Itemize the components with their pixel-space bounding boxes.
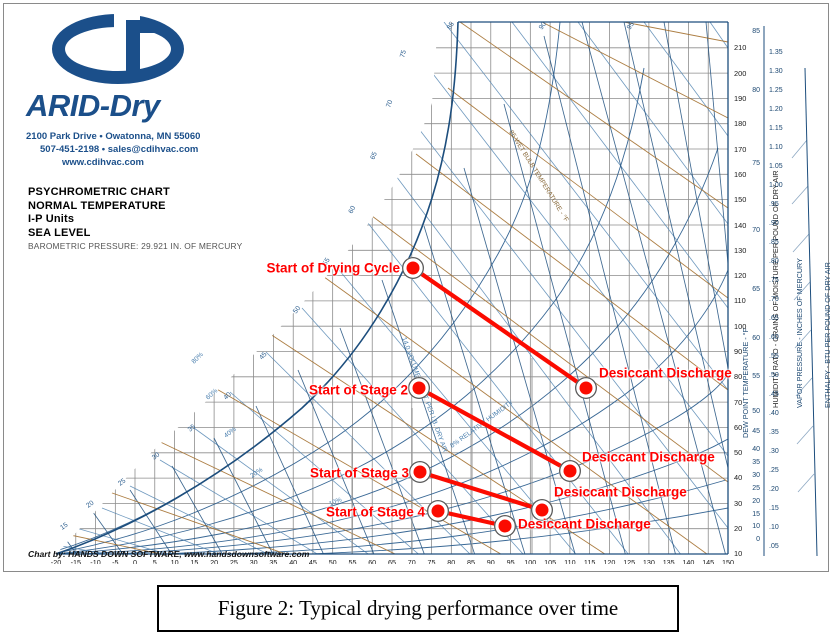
dew-point-axis-title: DEW POINT TEMPERATURE - °F <box>741 327 750 438</box>
label-start-of-stage-2: Start of Stage 2 <box>309 383 408 398</box>
svg-text:200: 200 <box>734 69 746 78</box>
svg-text:.45: .45 <box>769 391 779 398</box>
svg-text:170: 170 <box>734 145 746 154</box>
svg-text:.95: .95 <box>769 201 779 208</box>
svg-text:.55: .55 <box>769 353 779 360</box>
svg-text:80%: 80% <box>191 351 205 365</box>
svg-text:35: 35 <box>187 423 197 433</box>
chart-title-line1: PSYCHROMETRIC CHART <box>28 186 242 200</box>
figure-caption-text: Figure 2: Typical drying performance ove… <box>218 596 619 621</box>
svg-text:.15: .15 <box>769 505 779 512</box>
chart-credit: Chart by: HANDS DOWN SOFTWARE, www.hands… <box>28 549 309 559</box>
svg-text:50: 50 <box>752 408 760 415</box>
svg-text:35: 35 <box>752 459 760 466</box>
svg-text:1.15: 1.15 <box>769 125 783 132</box>
chart-title-line2: NORMAL TEMPERATURE <box>28 200 242 214</box>
svg-text:25: 25 <box>752 485 760 492</box>
marker-dot-icon <box>499 520 512 533</box>
svg-text:130: 130 <box>643 558 655 564</box>
svg-text:.40: .40 <box>769 410 779 417</box>
svg-text:140: 140 <box>734 221 746 230</box>
svg-text:70: 70 <box>408 558 416 564</box>
svg-text:140: 140 <box>682 558 694 564</box>
svg-text:45: 45 <box>309 558 317 564</box>
svg-text:1.35: 1.35 <box>769 49 783 56</box>
svg-text:115: 115 <box>584 558 595 564</box>
svg-text:.70: .70 <box>769 296 779 303</box>
marker-dot-icon <box>536 504 549 517</box>
svg-text:75: 75 <box>428 558 436 564</box>
svg-text:75: 75 <box>399 49 408 58</box>
svg-text:.60: .60 <box>769 334 779 341</box>
svg-text:210: 210 <box>734 43 746 52</box>
marker-start-of-stage-4[interactable] <box>427 500 449 522</box>
svg-text:.90: .90 <box>769 220 779 227</box>
svg-text:50: 50 <box>329 558 337 564</box>
svg-text:90: 90 <box>487 558 495 564</box>
label-desiccant-discharge-1: Desiccant Discharge <box>599 366 732 381</box>
svg-text:40%: 40% <box>223 426 238 440</box>
vapor-pressure-axis-title: VAPOR PRESSURE - INCHES OF MERCURY <box>795 258 804 408</box>
svg-text:50: 50 <box>734 448 742 457</box>
svg-text:.80: .80 <box>769 258 779 265</box>
brand-address-line1: 2100 Park Drive • Owatonna, MN 55060 <box>26 130 306 143</box>
barometric-pressure-note: BAROMETRIC PRESSURE: 29.921 IN. OF MERCU… <box>28 241 242 251</box>
svg-text:110: 110 <box>564 558 575 564</box>
svg-text:85: 85 <box>752 28 760 35</box>
svg-text:1.30: 1.30 <box>769 68 783 75</box>
svg-text:55: 55 <box>349 558 357 564</box>
svg-text:120: 120 <box>603 558 615 564</box>
vapor-pressure-axis: .05.10.15 .20.25.30 .35.40.45 .50.55.60 … <box>769 49 783 550</box>
svg-text:30: 30 <box>752 472 760 479</box>
marker-start-of-stage-3[interactable] <box>409 461 431 483</box>
svg-text:.25: .25 <box>769 467 779 474</box>
svg-text:40: 40 <box>734 473 742 482</box>
marker-start-of-drying-cycle[interactable] <box>402 257 424 279</box>
svg-text:150: 150 <box>722 558 734 564</box>
page-root: -20-15-10 -505 101520 253035 404550 5560… <box>0 0 836 636</box>
svg-text:.20: .20 <box>769 486 779 493</box>
svg-text:120: 120 <box>734 271 746 280</box>
svg-text:190: 190 <box>734 94 746 103</box>
brand-block: ARID-Dry 2100 Park Drive • Owatonna, MN … <box>26 14 306 169</box>
svg-text:40: 40 <box>223 391 233 401</box>
svg-text:100: 100 <box>524 558 536 564</box>
svg-text:0: 0 <box>756 536 760 543</box>
svg-text:25: 25 <box>117 477 127 487</box>
svg-text:20%: 20% <box>249 466 264 479</box>
humidity-ratio-axis: 102030 405060 708090 100110120 130140150… <box>734 43 746 558</box>
brand-website[interactable]: www.cdihvac.com <box>62 156 306 169</box>
marker-desiccant-discharge-4[interactable] <box>494 515 516 537</box>
svg-text:.05: .05 <box>769 543 779 550</box>
svg-text:65: 65 <box>369 151 379 161</box>
svg-text:70: 70 <box>385 99 394 109</box>
svg-text:.30: .30 <box>769 448 779 455</box>
marker-dot-icon <box>432 505 445 518</box>
svg-text:50: 50 <box>292 305 302 315</box>
svg-text:110: 110 <box>734 296 746 305</box>
label-start-of-stage-4: Start of Stage 4 <box>326 505 425 520</box>
marker-desiccant-discharge-1[interactable] <box>575 377 597 399</box>
brand-contact: 2100 Park Drive • Owatonna, MN 55060 507… <box>26 130 306 169</box>
marker-dot-icon <box>413 382 426 395</box>
svg-text:.50: .50 <box>769 372 779 379</box>
svg-text:1.25: 1.25 <box>769 87 783 94</box>
svg-text:45: 45 <box>258 351 268 361</box>
svg-text:45: 45 <box>752 428 760 435</box>
svg-text:15: 15 <box>59 522 69 532</box>
label-desiccant-discharge-2: Desiccant Discharge <box>582 450 715 465</box>
svg-text:65: 65 <box>388 558 396 564</box>
label-start-of-drying-cycle: Start of Drying Cycle <box>266 261 400 276</box>
label-desiccant-discharge-4: Desiccant Discharge <box>518 517 651 532</box>
svg-text:145: 145 <box>702 558 714 564</box>
figure-caption-box: Figure 2: Typical drying performance ove… <box>157 585 679 632</box>
svg-text:60: 60 <box>752 335 760 342</box>
svg-text:85: 85 <box>446 21 456 31</box>
svg-text:60: 60 <box>368 558 376 564</box>
wet-bulb-note: 85 WET BULB TEMPERATURE - °F <box>507 129 570 223</box>
label-start-of-stage-3: Start of Stage 3 <box>310 466 409 481</box>
svg-text:.10: .10 <box>769 524 779 531</box>
svg-text:20: 20 <box>734 524 742 533</box>
enthalpy-axis-title: ENTHALPY - BTU PER POUND OF DRY AIR <box>823 262 832 408</box>
svg-text:70: 70 <box>752 227 760 234</box>
svg-text:1.20: 1.20 <box>769 106 783 113</box>
svg-text:20: 20 <box>85 500 95 510</box>
svg-text:180: 180 <box>734 119 746 128</box>
marker-start-of-stage-2[interactable] <box>408 377 430 399</box>
svg-text:10: 10 <box>734 549 742 558</box>
svg-text:80: 80 <box>447 558 455 564</box>
svg-text:.85: .85 <box>769 239 779 246</box>
arid-dry-logo-icon <box>52 14 202 86</box>
svg-text:.65: .65 <box>769 315 779 322</box>
svg-text:40: 40 <box>752 446 760 453</box>
svg-text:150: 150 <box>734 195 746 204</box>
svg-text:75: 75 <box>752 160 760 167</box>
marker-dot-icon <box>414 466 427 479</box>
brand-name: ARID-Dry <box>26 88 306 124</box>
svg-text:.75: .75 <box>769 277 779 284</box>
svg-text:85: 85 <box>467 558 475 564</box>
svg-text:60: 60 <box>348 205 358 215</box>
svg-text:130: 130 <box>734 246 746 255</box>
enthalpy-axis-line <box>805 68 817 556</box>
svg-text:.35: .35 <box>769 429 779 436</box>
svg-text:60%: 60% <box>205 387 220 401</box>
svg-text:1.05: 1.05 <box>769 163 783 170</box>
svg-text:160: 160 <box>734 170 746 179</box>
dew-point-axis: 01015 202530 354045 505560 657075 8085 <box>752 28 760 543</box>
marker-dot-icon <box>580 382 593 395</box>
drying-segment-1 <box>413 268 586 388</box>
svg-text:20: 20 <box>752 498 760 505</box>
svg-text:95: 95 <box>507 558 515 564</box>
svg-text:1.00: 1.00 <box>769 182 783 189</box>
svg-text:125: 125 <box>623 558 635 564</box>
label-desiccant-discharge-3: Desiccant Discharge <box>554 485 687 500</box>
brand-address-line2[interactable]: 507-451-2198 • sales@cdihvac.com <box>40 143 306 156</box>
svg-text:10: 10 <box>752 523 760 530</box>
svg-text:55: 55 <box>752 373 760 380</box>
svg-text:30: 30 <box>734 499 742 508</box>
marker-dot-icon <box>407 262 420 275</box>
svg-text:80: 80 <box>752 87 760 94</box>
marker-dot-icon <box>564 465 577 478</box>
marker-desiccant-discharge-2[interactable] <box>559 460 581 482</box>
svg-text:135: 135 <box>663 558 675 564</box>
svg-text:105: 105 <box>544 558 556 564</box>
chart-title-line3: I-P Units <box>28 213 242 227</box>
svg-text:1.10: 1.10 <box>769 144 783 151</box>
chart-title-line4: SEA LEVEL <box>28 227 242 241</box>
chart-title-block: PSYCHROMETRIC CHART NORMAL TEMPERATURE I… <box>28 186 242 251</box>
svg-text:15: 15 <box>752 511 760 518</box>
svg-text:65: 65 <box>752 286 760 293</box>
